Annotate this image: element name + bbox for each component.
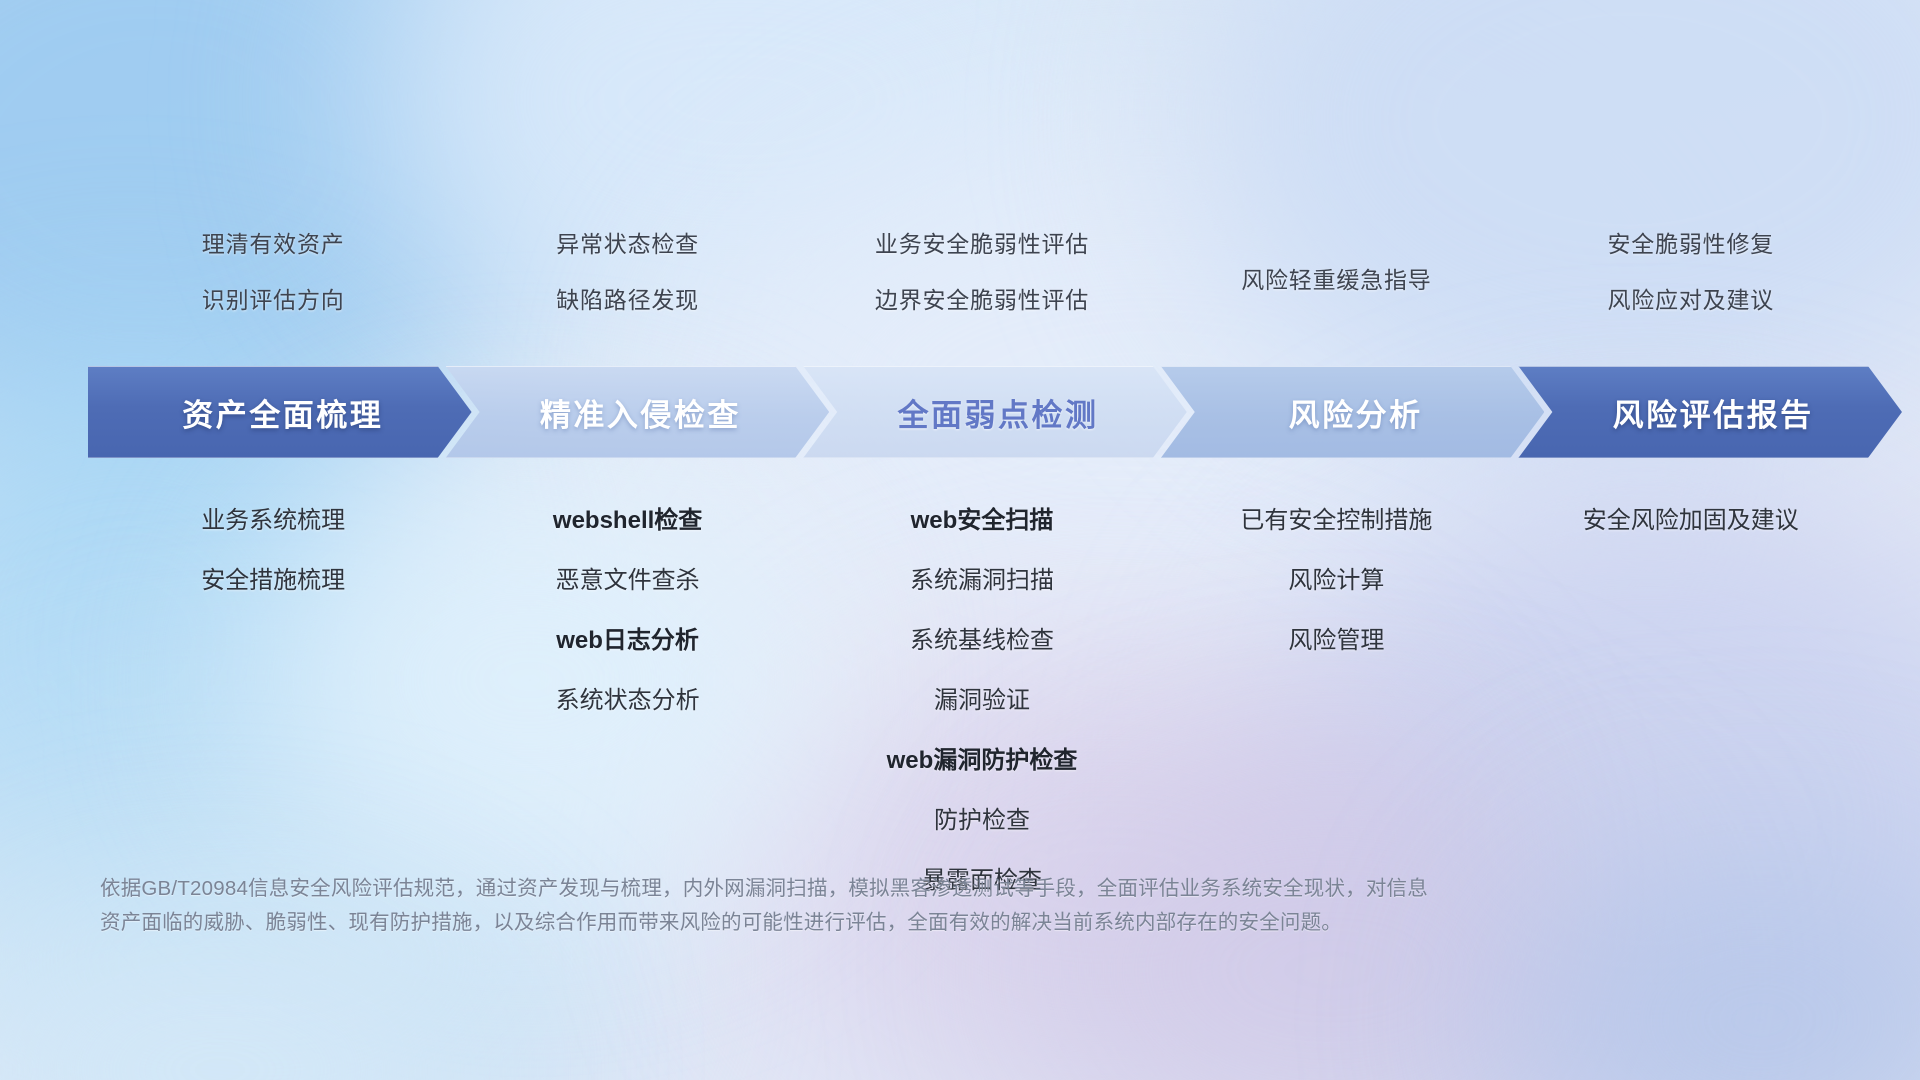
process-arrow-intrusion-check[interactable]: 精准入侵检查 [446,366,830,458]
outcome-label: 识别评估方向 [202,281,345,315]
process-arrow-label: 资产全面梳理 [176,390,383,435]
task-item: web安全扫描 [911,500,1054,535]
stage-outcomes-weakness-detection: 业务安全脆弱性评估边界安全脆弱性评估 [805,225,1159,315]
stage-tasks-row: 业务系统梳理安全措施梳理webshell检查恶意文件查杀web日志分析系统状态分… [96,500,1868,895]
outcome-label: 安全脆弱性修复 [1607,225,1774,259]
stage-tasks-weakness-detection: web安全扫描系统漏洞扫描系统基线检查漏洞验证web漏洞防护检查防护检查暴露面检… [805,500,1159,895]
task-item: 系统基线检查 [910,620,1054,655]
process-arrow-weakness-detection[interactable]: 全面弱点检测 [803,366,1187,458]
process-arrow-label: 风险评估报告 [1607,390,1814,435]
outcome-label: 业务安全脆弱性评估 [875,225,1089,259]
task-item: 风险计算 [1288,560,1384,595]
outcome-label: 理清有效资产 [202,225,345,259]
footer-line-2: 资产面临的威胁、脆弱性、现有防护措施，以及综合作用而带来风险的可能性进行评估，全… [100,906,1830,940]
outcome-label: 风险应对及建议 [1607,281,1774,315]
stage-outcomes-risk-analysis: 风险轻重缓急指导 [1159,225,1513,295]
task-item: 恶意文件查杀 [556,560,700,595]
process-arrow-label: 精准入侵检查 [534,390,741,435]
slide-canvas: 理清有效资产识别评估方向异常状态检查缺陷路径发现业务安全脆弱性评估边界安全脆弱性… [0,0,1920,1080]
stage-tasks-risk-analysis: 已有安全控制措施风险计算风险管理 [1159,500,1513,655]
outcome-label: 异常状态检查 [556,225,699,259]
process-arrow-band: 资产全面梳理精准入侵检查全面弱点检测风险分析风险评估报告 [88,366,1876,458]
task-item: web日志分析 [556,620,699,655]
stage-outcomes-intrusion-check: 异常状态检查缺陷路径发现 [450,225,804,315]
process-arrow-label: 风险分析 [1283,390,1423,435]
stage-outcomes-assessment-report: 安全脆弱性修复风险应对及建议 [1514,225,1868,315]
outcome-label: 缺陷路径发现 [556,281,699,315]
task-item: 系统状态分析 [556,680,700,715]
task-item: webshell检查 [553,500,702,535]
task-item: 防护检查 [934,800,1030,835]
task-item: 业务系统梳理 [201,500,345,535]
outcome-label: 边界安全脆弱性评估 [875,281,1089,315]
task-item: 安全措施梳理 [201,560,345,595]
task-item: 漏洞验证 [934,680,1030,715]
task-item: 系统漏洞扫描 [910,560,1054,595]
process-arrow-label: 全面弱点检测 [891,390,1098,435]
footer-line-1: 依据GB/T20984信息安全风险评估规范，通过资产发现与梳理，内外网漏洞扫描，… [100,872,1830,906]
process-arrow-assessment-report[interactable]: 风险评估报告 [1518,366,1902,458]
stage-outcomes-asset-inventory: 理清有效资产识别评估方向 [96,225,450,315]
task-item: 已有安全控制措施 [1240,500,1432,535]
stage-outcomes-row: 理清有效资产识别评估方向异常状态检查缺陷路径发现业务安全脆弱性评估边界安全脆弱性… [96,225,1868,315]
stage-tasks-intrusion-check: webshell检查恶意文件查杀web日志分析系统状态分析 [450,500,804,715]
task-item: 风险管理 [1288,620,1384,655]
process-arrow-risk-analysis[interactable]: 风险分析 [1161,366,1545,458]
process-arrow-asset-inventory[interactable]: 资产全面梳理 [88,366,472,458]
task-item: web漏洞防护检查 [887,740,1078,775]
task-item: 安全风险加固及建议 [1583,500,1799,535]
stage-tasks-asset-inventory: 业务系统梳理安全措施梳理 [96,500,450,595]
footer-description: 依据GB/T20984信息安全风险评估规范，通过资产发现与梳理，内外网漏洞扫描，… [100,872,1830,940]
outcome-label: 风险轻重缓急指导 [1241,261,1431,295]
stage-tasks-assessment-report: 安全风险加固及建议 [1514,500,1868,535]
